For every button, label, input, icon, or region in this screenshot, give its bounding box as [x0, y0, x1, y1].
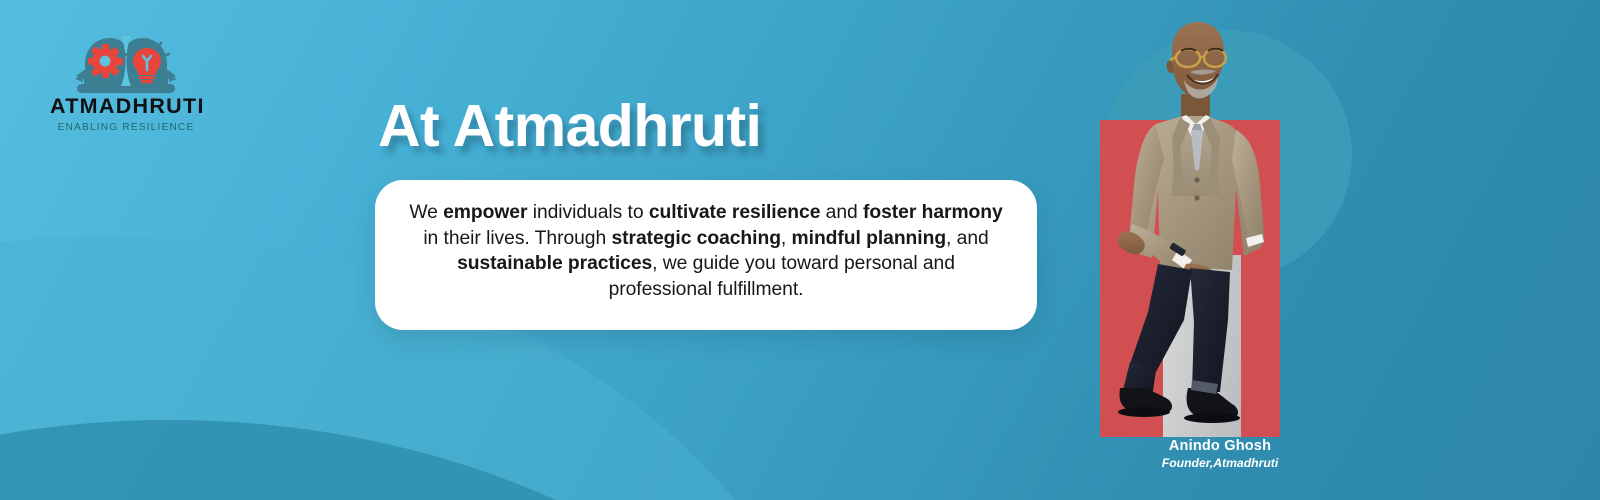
speech-bubble-text: We empower individuals to cultivate resi… [375, 200, 1037, 302]
founder-portrait-block: Anindo Ghosh Founder,Atmadhruti [1060, 0, 1380, 500]
hero-banner: ATMADHRUTI ENABLING RESILIENCE At Atmadh… [0, 0, 1600, 500]
brand-logo[interactable]: ATMADHRUTI ENABLING RESILIENCE [50, 30, 202, 133]
founder-photo [1060, 20, 1380, 440]
portrait-caption: Anindo Ghosh Founder,Atmadhruti [1060, 438, 1380, 470]
founder-role: Founder,Atmadhruti [1060, 456, 1380, 470]
page-title: At Atmadhruti [378, 96, 761, 158]
founder-name: Anindo Ghosh [1060, 438, 1380, 454]
speech-bubble-tail [965, 292, 1037, 330]
speech-bubble: We empower individuals to cultivate resi… [375, 180, 1037, 330]
two-heads-gear-bulb-icon [63, 30, 189, 94]
brand-wordmark: ATMADHRUTI [50, 95, 202, 118]
background-wave-dark [0, 420, 900, 500]
brand-tagline: ENABLING RESILIENCE [50, 122, 202, 133]
